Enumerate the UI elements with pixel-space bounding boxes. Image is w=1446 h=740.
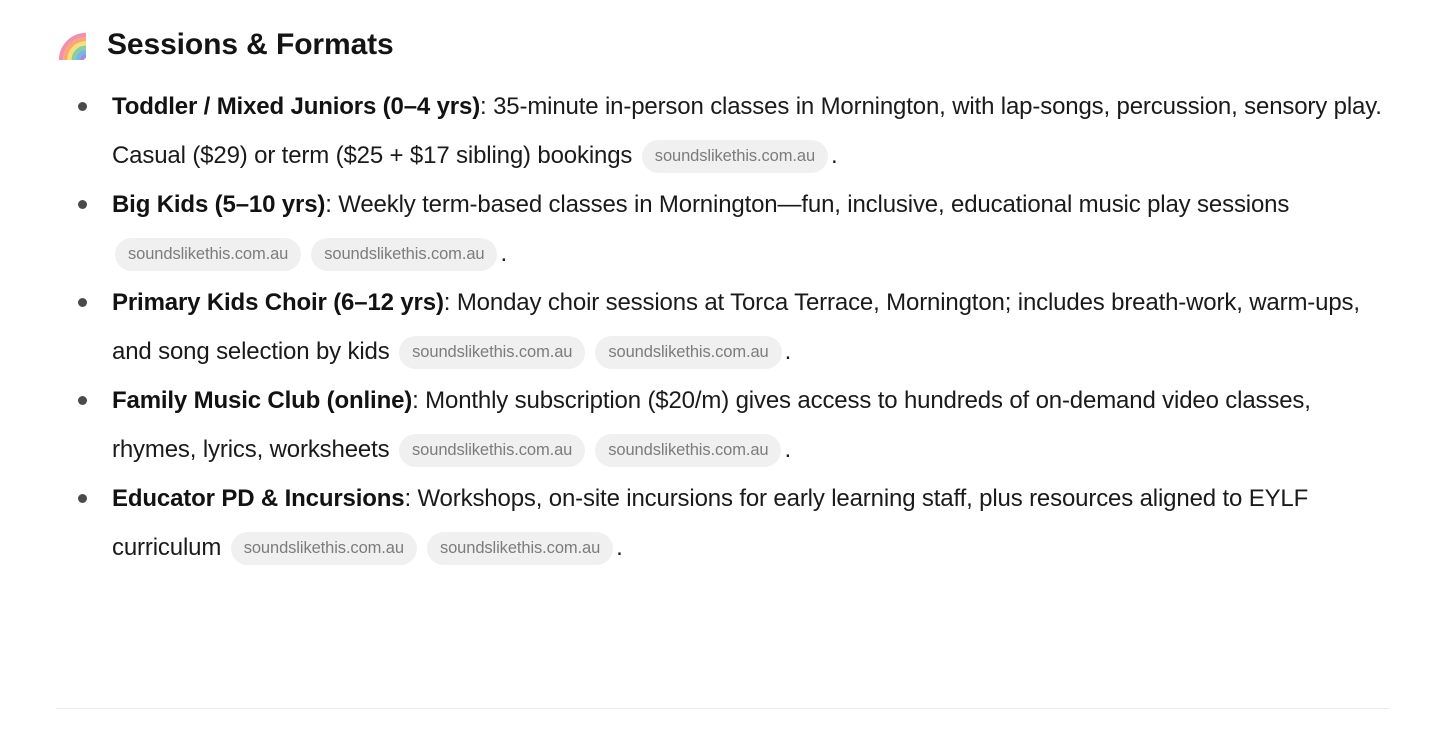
document-page: Sessions & Formats Toddler / Mixed Junio… [0,0,1446,740]
list-item-body: : Weekly term-based classes in Morningto… [325,191,1289,218]
list-item: Toddler / Mixed Juniors (0–4 yrs): 35-mi… [78,82,1386,180]
page-title: Sessions & Formats [0,0,1446,64]
list-item-trailing: . [784,436,791,463]
list-item-term: Big Kids (5–10 yrs) [112,191,325,218]
bullet-icon [78,200,87,209]
list-item-term: Primary Kids Choir (6–12 yrs) [112,289,444,316]
list-item-trailing: . [500,240,507,267]
citation-chip[interactable]: soundslikethis.com.au [427,532,613,566]
bullet-icon [78,298,87,307]
list-item-term: Family Music Club (online) [112,387,412,414]
sessions-list: Toddler / Mixed Juniors (0–4 yrs): 35-mi… [0,64,1446,572]
list-item-trailing: . [831,142,838,169]
citation-chip[interactable]: soundslikethis.com.au [399,434,585,468]
citation-chip[interactable]: soundslikethis.com.au [595,434,781,468]
list-item-term: Toddler / Mixed Juniors (0–4 yrs) [112,93,480,120]
citation-chip[interactable]: soundslikethis.com.au [115,238,301,272]
citation-chip[interactable]: soundslikethis.com.au [399,336,585,370]
list-item: Family Music Club (online): Monthly subs… [78,376,1386,474]
list-item-trailing: . [785,338,792,365]
page-title-text: Sessions & Formats [107,26,394,64]
list-item: Educator PD & Incursions: Workshops, on-… [78,474,1386,572]
citation-chip[interactable]: soundslikethis.com.au [642,140,828,174]
bullet-icon [78,102,87,111]
section-divider [56,708,1390,709]
list-item: Big Kids (5–10 yrs): Weekly term-based c… [78,180,1386,278]
bullet-icon [78,396,87,405]
citation-chip[interactable]: soundslikethis.com.au [231,532,417,566]
list-item-term: Educator PD & Incursions [112,485,404,512]
list-item: Primary Kids Choir (6–12 yrs): Monday ch… [78,278,1386,376]
rainbow-emoji [58,31,94,61]
citation-chip[interactable]: soundslikethis.com.au [595,336,781,370]
citation-chip[interactable]: soundslikethis.com.au [311,238,497,272]
list-item-trailing: . [616,534,623,561]
bullet-icon [78,494,87,503]
